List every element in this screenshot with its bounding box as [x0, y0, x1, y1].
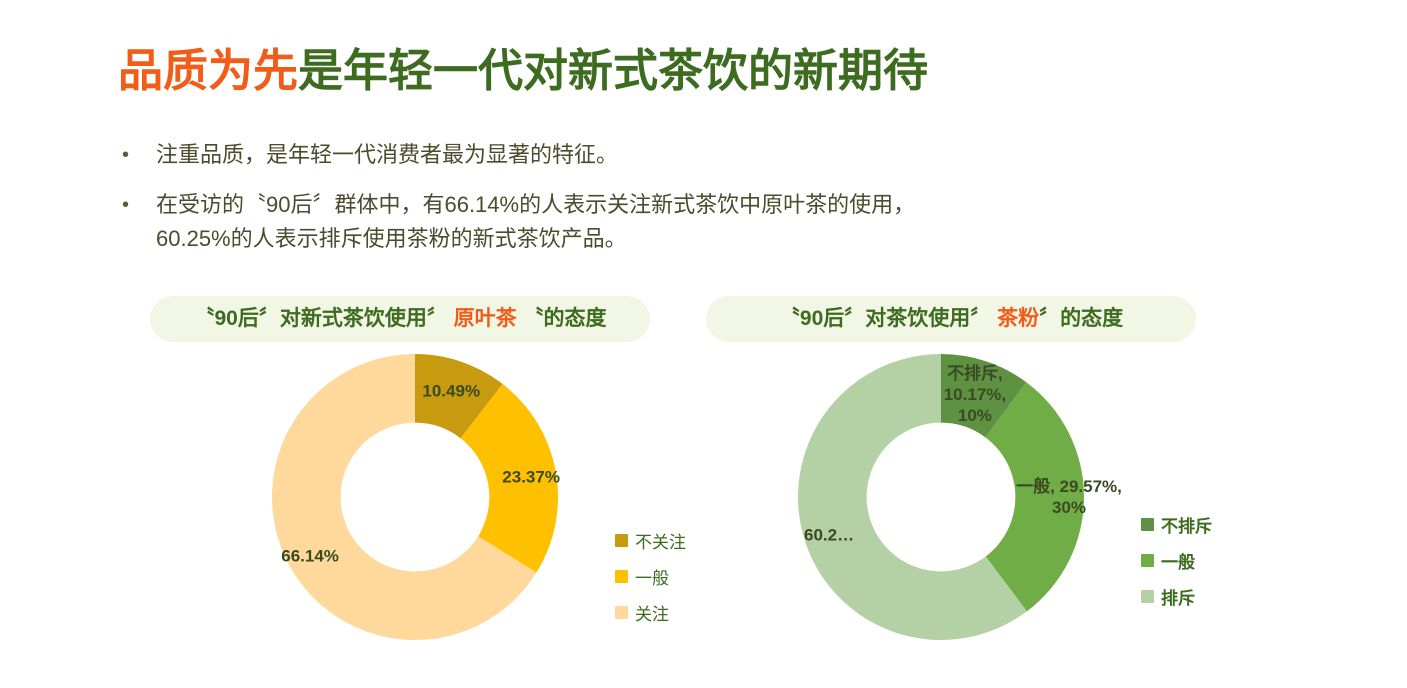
bullet-text: 注重品质，是年轻一代消费者最为显著的特征。 [156, 138, 618, 172]
legend-swatch-icon [1141, 554, 1154, 567]
legend-swatch-icon [1141, 518, 1154, 531]
legend-swatch-icon [1141, 590, 1154, 603]
donut-area-tea-powder: 不排斥, 10.17%, 10% 一般, 29.57%, 30% 60.2… 不… [706, 352, 1306, 652]
chart-leaf-tea-attitude: 〝90后〞对新式茶饮使用〞 原叶茶 〝的态度 10.49% 23.37% 66.… [150, 296, 725, 652]
bullet-marker-icon: • [118, 188, 156, 222]
chart-tea-powder-attitude: 〝90后〞对茶饮使用〞 茶粉〞的态度 不排斥, 10.17%, 10% 一般, … [706, 296, 1306, 652]
donut-area-leaf-tea: 10.49% 23.37% 66.14% 不关注 一般 关注 [150, 352, 725, 652]
bullet-marker-icon: • [118, 138, 156, 172]
legend-item[interactable]: 排斥 [1141, 584, 1212, 609]
chart-title-segment: 〝90后〞对茶饮使用〞 [779, 307, 997, 330]
chart-title-accent: 茶粉 [997, 307, 1039, 330]
chart-title-segment: 〝90后〞对新式茶饮使用〞 [193, 307, 453, 330]
legend-leaf-tea: 不关注 一般 关注 [615, 528, 686, 636]
legend-swatch-icon [615, 570, 628, 583]
chart-title-segment: 〝的态度 [517, 307, 607, 330]
chart-title-segment: 〞的态度 [1039, 307, 1123, 330]
legend-swatch-icon [615, 606, 628, 619]
page-title: 品质为先是年轻一代对新式茶饮的新期待 [118, 44, 928, 98]
slide-canvas: 品质为先是年轻一代对新式茶饮的新期待 • 注重品质，是年轻一代消费者最为显著的特… [0, 0, 1407, 688]
legend-item[interactable]: 一般 [1141, 548, 1212, 573]
legend-label: 不关注 [635, 528, 686, 553]
chart-title-leaf-tea: 〝90后〞对新式茶饮使用〞 原叶茶 〝的态度 [150, 296, 650, 342]
donut-chart-tea-powder [796, 352, 1086, 642]
bullet-text: 在受访的〝90后〞群体中，有66.14%的人表示关注新式茶饮中原叶茶的使用， 6… [156, 188, 915, 256]
page-title-main: 是年轻一代对新式茶饮的新期待 [298, 45, 928, 96]
donut-svg-leaf-tea [270, 352, 560, 642]
donut-chart-leaf-tea [270, 352, 560, 642]
legend-swatch-icon [615, 534, 628, 547]
legend-item[interactable]: 关注 [615, 600, 686, 625]
legend-label: 一般 [1161, 548, 1195, 573]
donut-svg-tea-powder [796, 352, 1086, 642]
legend-label: 一般 [635, 564, 669, 589]
list-item: • 注重品质，是年轻一代消费者最为显著的特征。 [118, 138, 1218, 172]
list-item: • 在受访的〝90后〞群体中，有66.14%的人表示关注新式茶饮中原叶茶的使用，… [118, 188, 1218, 256]
chart-title-tea-powder: 〝90后〞对茶饮使用〞 茶粉〞的态度 [706, 296, 1196, 342]
legend-label: 不排斥 [1161, 512, 1212, 537]
legend-label: 排斥 [1161, 584, 1195, 609]
legend-tea-powder: 不排斥 一般 排斥 [1141, 512, 1212, 620]
legend-item[interactable]: 一般 [615, 564, 686, 589]
legend-item[interactable]: 不排斥 [1141, 512, 1212, 537]
legend-label: 关注 [635, 600, 669, 625]
legend-item[interactable]: 不关注 [615, 528, 686, 553]
chart-title-accent: 原叶茶 [454, 307, 517, 330]
bullet-list: • 注重品质，是年轻一代消费者最为显著的特征。 • 在受访的〝90后〞群体中，有… [118, 138, 1218, 272]
page-title-accent: 品质为先 [118, 45, 298, 96]
